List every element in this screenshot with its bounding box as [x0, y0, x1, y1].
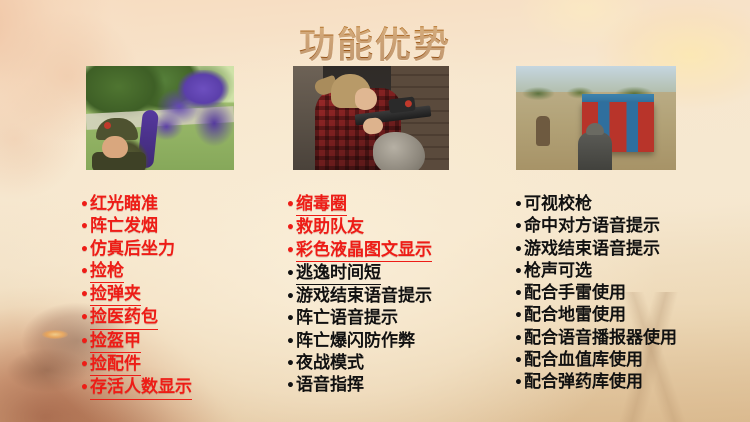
feature-item-label: 游戏结束语音提示 — [524, 238, 660, 260]
feature-item: •捡弹夹 — [80, 283, 250, 306]
feature-item-label: 捡枪 — [90, 260, 124, 283]
bullet-icon: • — [80, 198, 89, 212]
feature-item: •阵亡发烟 — [80, 215, 250, 237]
feature-item: •救助队友 — [286, 216, 496, 238]
feature-item: •游戏结束语音提示 — [286, 285, 496, 307]
feature-item-label: 枪声可选 — [524, 260, 592, 282]
feature-item-label: 命中对方语音提示 — [524, 215, 660, 237]
feature-item-label: 彩色液晶图文显示 — [296, 239, 432, 262]
bullet-icon: • — [286, 379, 295, 393]
bullet-icon: • — [514, 265, 523, 279]
bullet-icon: • — [286, 357, 295, 371]
photo-airdrop-crate — [516, 66, 676, 170]
feature-column-3: •可视校枪•命中对方语音提示•游戏结束语音提示•枪声可选•配合手雷使用•配合地雷… — [514, 193, 740, 394]
bullet-icon: • — [514, 243, 523, 257]
feature-item-label: 语音指挥 — [296, 374, 364, 396]
photo3-player-back — [578, 132, 612, 170]
feature-item: •命中对方语音提示 — [514, 215, 740, 237]
feature-item-label: 救助队友 — [296, 216, 364, 238]
feature-item-label: 可视校枪 — [524, 193, 592, 215]
feature-item-label: 红光瞄准 — [90, 193, 158, 215]
feature-item: •捡配件 — [80, 353, 250, 376]
feature-item-label: 阵亡语音提示 — [296, 307, 398, 329]
bullet-icon: • — [286, 221, 295, 235]
feature-item-label: 捡弹夹 — [90, 283, 141, 306]
feature-item-label: 缩毒圈 — [296, 193, 347, 216]
feature-item: •阵亡语音提示 — [286, 307, 496, 329]
bullet-icon: • — [514, 309, 523, 323]
bullet-icon: • — [286, 335, 295, 349]
feature-item-label: 阵亡发烟 — [90, 215, 158, 237]
slide-root: 功能优势 •红光瞄准•阵亡发烟•仿真后坐力•捡枪•捡弹夹• — [0, 0, 750, 422]
feature-item: •配合弹药库使用 — [514, 371, 740, 393]
photo1-face — [102, 136, 128, 158]
feature-item-label: 捡医药包 — [90, 306, 158, 329]
feature-item: •阵亡爆闪防作弊 — [286, 330, 496, 352]
feature-item: •游戏结束语音提示 — [514, 238, 740, 260]
feature-item-label: 阵亡爆闪防作弊 — [296, 330, 415, 352]
feature-item-label: 配合弹药库使用 — [524, 371, 643, 393]
feature-item: •可视校枪 — [514, 193, 740, 215]
feature-item-label: 配合语音播报器使用 — [524, 327, 677, 349]
feature-item: •配合语音播报器使用 — [514, 327, 740, 349]
feature-item: •配合手雷使用 — [514, 282, 740, 304]
bullet-icon: • — [286, 290, 295, 304]
bullet-icon: • — [80, 243, 89, 257]
photo2-face — [355, 88, 377, 110]
feature-item-label: 存活人数显示 — [90, 376, 192, 399]
photo-player-aiming — [293, 66, 449, 170]
feature-item: •缩毒圈 — [286, 193, 496, 216]
feature-item-label: 夜战模式 — [296, 352, 364, 374]
bullet-icon: • — [80, 358, 89, 372]
feature-item: •枪声可选 — [514, 260, 740, 282]
feature-item-label: 配合地雷使用 — [524, 304, 626, 326]
bullet-icon: • — [286, 312, 295, 326]
feature-item: •捡医药包 — [80, 306, 250, 329]
feature-item-label: 游戏结束语音提示 — [296, 285, 432, 307]
feature-item-label: 配合血值库使用 — [524, 349, 643, 371]
photo-smoke-grenade — [86, 66, 234, 170]
feature-item: •彩色液晶图文显示 — [286, 239, 496, 262]
feature-item: •红光瞄准 — [80, 193, 250, 215]
bullet-icon: • — [514, 198, 523, 212]
feature-item: •配合地雷使用 — [514, 304, 740, 326]
bullet-icon: • — [514, 287, 523, 301]
feature-item: •逃逸时间短 — [286, 262, 496, 285]
bullet-icon: • — [514, 220, 523, 234]
page-title: 功能优势 — [0, 16, 750, 68]
feature-item-label: 捡配件 — [90, 353, 141, 376]
feature-item: •语音指挥 — [286, 374, 496, 396]
feature-item-label: 逃逸时间短 — [296, 262, 381, 285]
bullet-icon: • — [80, 220, 89, 234]
bullet-icon: • — [80, 311, 89, 325]
bullet-icon: • — [286, 267, 295, 281]
feature-item: •仿真后坐力 — [80, 238, 250, 260]
feature-item-label: 仿真后坐力 — [90, 238, 175, 260]
bullet-icon: • — [286, 244, 295, 258]
photo1-purple-smoke — [148, 70, 234, 156]
feature-item: •捡盔甲 — [80, 330, 250, 353]
photo3-runner-near — [536, 116, 550, 146]
feature-item: •配合血值库使用 — [514, 349, 740, 371]
bullet-icon: • — [514, 332, 523, 346]
feature-item: •夜战模式 — [286, 352, 496, 374]
feature-item-label: 捡盔甲 — [90, 330, 141, 353]
feature-column-2: •缩毒圈•救助队友•彩色液晶图文显示•逃逸时间短•游戏结束语音提示•阵亡语音提示… — [286, 193, 496, 397]
bullet-icon: • — [80, 335, 89, 349]
bullet-icon: • — [286, 198, 295, 212]
feature-item: •捡枪 — [80, 260, 250, 283]
feature-item: •存活人数显示 — [80, 376, 250, 399]
bullet-icon: • — [514, 376, 523, 390]
bullet-icon: • — [80, 265, 89, 279]
bullet-icon: • — [80, 381, 89, 395]
bullet-icon: • — [514, 354, 523, 368]
feature-item-label: 配合手雷使用 — [524, 282, 626, 304]
feature-columns: •红光瞄准•阵亡发烟•仿真后坐力•捡枪•捡弹夹•捡医药包•捡盔甲•捡配件•存活人… — [0, 193, 750, 418]
bullet-icon: • — [80, 288, 89, 302]
feature-column-1: •红光瞄准•阵亡发烟•仿真后坐力•捡枪•捡弹夹•捡医药包•捡盔甲•捡配件•存活人… — [80, 193, 250, 400]
